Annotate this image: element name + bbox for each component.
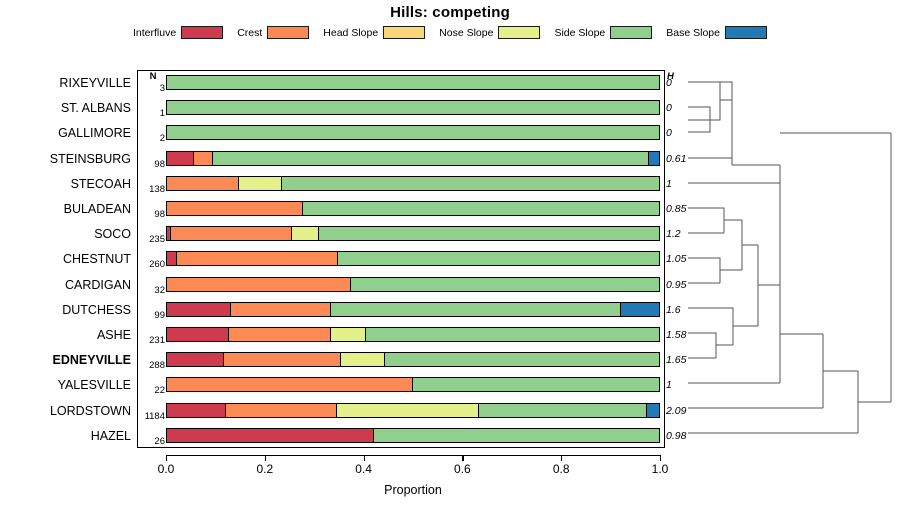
bar-segment xyxy=(351,278,659,291)
bar-segment xyxy=(331,303,621,316)
bar-segment xyxy=(167,404,226,417)
row-label: ASHE xyxy=(0,323,131,347)
bar-segment xyxy=(167,303,231,316)
stacked-bar xyxy=(166,377,660,392)
x-tick-label: 0.6 xyxy=(440,462,484,476)
bar-segment xyxy=(167,353,224,366)
bar-segment xyxy=(167,429,374,442)
bar-segment xyxy=(167,378,413,391)
row-label: STECOAH xyxy=(0,172,131,196)
stacked-bar xyxy=(166,226,660,241)
x-tick-label: 0.2 xyxy=(243,462,287,476)
bar-segment xyxy=(337,404,480,417)
x-tick xyxy=(561,455,562,461)
x-tick xyxy=(462,455,463,461)
stacked-bar xyxy=(166,151,660,166)
legend-entry: Base Slope xyxy=(666,26,767,39)
stacked-bar xyxy=(166,302,660,317)
bar-segment xyxy=(171,227,293,240)
legend-swatch xyxy=(498,26,540,39)
stacked-bar xyxy=(166,251,660,266)
row-label: ST. ALBANS xyxy=(0,96,131,120)
x-tick xyxy=(660,455,661,461)
row-label: LORDSTOWN xyxy=(0,399,131,423)
legend: InterfluveCrestHead SlopeNose SlopeSide … xyxy=(0,26,900,39)
legend-swatch xyxy=(383,26,425,39)
bar-segment xyxy=(621,303,659,316)
bar-segment xyxy=(167,101,659,114)
bar-segment xyxy=(366,328,659,341)
bar-segment xyxy=(239,177,282,190)
bar-segment xyxy=(282,177,659,190)
row-label: CARDIGAN xyxy=(0,273,131,297)
bar-segment xyxy=(292,227,319,240)
bar-segment xyxy=(177,252,338,265)
x-tick-label: 0.0 xyxy=(144,462,188,476)
bar-segment xyxy=(341,353,386,366)
bar-segment xyxy=(338,252,659,265)
x-tick-label: 1.0 xyxy=(638,462,682,476)
stacked-bar xyxy=(166,327,660,342)
legend-swatch xyxy=(267,26,309,39)
legend-label: Crest xyxy=(237,27,262,39)
legend-entry: Side Slope xyxy=(554,26,652,39)
row-label: CHESTNUT xyxy=(0,247,131,271)
legend-swatch xyxy=(610,26,652,39)
page-title: Hills: competing xyxy=(0,4,900,21)
x-tick xyxy=(166,455,167,461)
row-label: HAZEL xyxy=(0,424,131,448)
bar-segment xyxy=(374,429,659,442)
x-tick-label: 0.4 xyxy=(342,462,386,476)
stacked-bar xyxy=(166,428,660,443)
dendrogram xyxy=(680,70,900,450)
stacked-bar xyxy=(166,201,660,216)
x-tick xyxy=(265,455,266,461)
legend-swatch xyxy=(725,26,767,39)
bar-segment xyxy=(226,404,337,417)
bar-segment xyxy=(213,152,649,165)
legend-swatch xyxy=(181,26,223,39)
legend-label: Head Slope xyxy=(323,27,378,39)
legend-label: Side Slope xyxy=(554,27,605,39)
stacked-bar xyxy=(166,100,660,115)
bar-segment xyxy=(303,202,659,215)
row-label: GALLIMORE xyxy=(0,121,131,145)
stacked-bar xyxy=(166,352,660,367)
x-tick-label: 0.8 xyxy=(539,462,583,476)
bar-segment xyxy=(167,252,177,265)
bar-segment xyxy=(167,328,229,341)
row-label: SOCO xyxy=(0,222,131,246)
x-axis-line xyxy=(166,455,660,456)
bar-segment xyxy=(319,227,658,240)
row-label: BULADEAN xyxy=(0,197,131,221)
bar-segment xyxy=(649,152,659,165)
stacked-bar xyxy=(166,125,660,140)
bar-segment xyxy=(167,152,194,165)
row-count-n: 26 xyxy=(138,430,165,454)
x-axis-label: Proportion xyxy=(166,483,660,497)
legend-entry: Nose Slope xyxy=(439,26,540,39)
row-label: YALESVILLE xyxy=(0,373,131,397)
legend-entry: Interfluve xyxy=(133,26,223,39)
row-label: STEINSBURG xyxy=(0,147,131,171)
legend-label: Nose Slope xyxy=(439,27,493,39)
bar-segment xyxy=(167,126,659,139)
bar-segment xyxy=(479,404,646,417)
legend-label: Base Slope xyxy=(666,27,720,39)
bar-segment xyxy=(331,328,366,341)
row-label: RIXEYVILLE xyxy=(0,71,131,95)
bar-segment xyxy=(413,378,659,391)
bar-segment xyxy=(167,202,303,215)
legend-entry: Head Slope xyxy=(323,26,425,39)
x-tick xyxy=(364,455,365,461)
stacked-bar xyxy=(166,277,660,292)
bar-segment xyxy=(229,328,331,341)
stacked-bar xyxy=(166,176,660,191)
bar-segment xyxy=(194,152,213,165)
bar-segment xyxy=(647,404,659,417)
row-label: DUTCHESS xyxy=(0,298,131,322)
stacked-bar xyxy=(166,75,660,90)
bar-segment xyxy=(231,303,331,316)
bar-segment xyxy=(167,177,239,190)
bar-segment xyxy=(224,353,341,366)
bar-segment xyxy=(385,353,659,366)
bar-segment xyxy=(167,278,351,291)
bar-segment xyxy=(167,76,659,89)
legend-entry: Crest xyxy=(237,26,309,39)
legend-label: Interfluve xyxy=(133,27,176,39)
stacked-bar xyxy=(166,403,660,418)
row-label: EDNEYVILLE xyxy=(0,348,131,372)
